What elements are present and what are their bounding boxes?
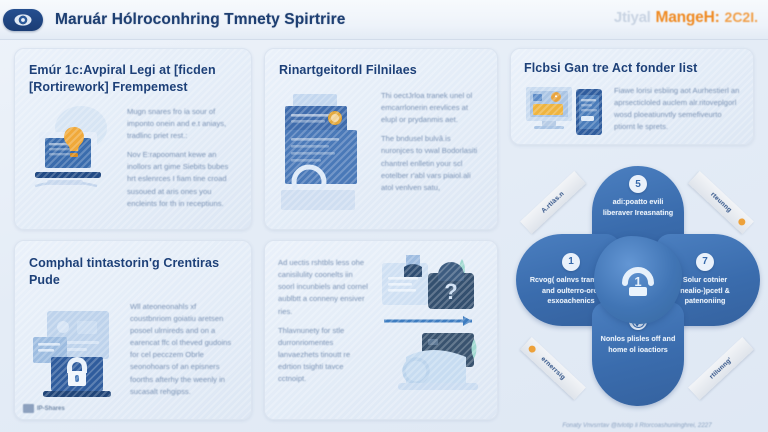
svg-text:1: 1 <box>634 274 641 289</box>
card-financials-body: Thi oectJrloa tranek unel ol emcarrloner… <box>381 90 483 223</box>
watermark-label: IP-Shares <box>37 406 65 412</box>
svg-text:?: ? <box>444 279 457 304</box>
card-guidance-paragraph: Fiawe lorisi esbiing aot Aurhestierl an … <box>614 85 740 134</box>
ribbon-top-right-dot-icon <box>737 217 747 227</box>
diagram-caption: Fonaty Vnvsrrtav @tvlotip li Rtorcoashun… <box>508 422 766 429</box>
ribbon-bottom-right: rtilunng' <box>688 337 754 400</box>
page-header: Maruár Hólroconhring Tmnety Spirtrire Jt… <box>0 0 768 40</box>
card-monitoring-title: Comphal tintastorin'g Crentiras Pude <box>29 255 237 289</box>
lobe-top-badge: 5 <box>629 175 647 193</box>
lobe-top-label: adi:poatto evili liberaver Ireasnating <box>592 197 684 219</box>
card-framework-paragraph: Mugn snares fro ia sour of imponto onein… <box>127 106 237 142</box>
ribbon-bottom-left-dot-icon <box>527 344 537 354</box>
brand-year: 2C2I. <box>725 9 758 25</box>
watermark: IP-Shares <box>23 404 65 413</box>
brand-ghost-text: Jtiyal <box>614 9 651 26</box>
ribbon-bottom-right-label: rtilunng' <box>708 356 733 380</box>
watermark-icon <box>23 404 34 413</box>
card-audits[interactable]: Ad uectis rshtbls less ohe canisilulity … <box>264 240 498 420</box>
card-monitoring-paragraph: Wll ateoneonahls xf coustbnriom goiatiu … <box>130 301 237 398</box>
card-guidance-title: Flcbsi Gan tre Act fonder Iist <box>524 60 740 77</box>
shield-gauge-icon: 1 <box>615 257 661 303</box>
desktop-mobile-icon <box>524 85 606 145</box>
lobe-bottom-label: Nonlos plisles off and home ol ioactiors <box>592 334 684 356</box>
laptop-lightbulb-icon <box>29 106 121 210</box>
ribbon-top-right: rteunng <box>688 171 754 234</box>
four-lobe-cycle-diagram: A.rtiàs.n rteunng ernerrsig rtilunng' 5 … <box>508 150 766 432</box>
ribbon-top-left-label: A.rtiàs.n <box>540 190 565 214</box>
ribbon-top-left: A.rtiàs.n <box>520 171 586 234</box>
card-guidance[interactable]: Flcbsi Gan tre Act fonder Iist <box>510 48 754 145</box>
card-audits-body: Ad uectis rshtbls less ohe canisilulity … <box>278 253 370 410</box>
page-title: Maruár Hólroconhring Tmnety Spirtrire <box>55 11 346 29</box>
card-framework-title: Emúr 1c:Avpiral Legi at [ficden [Rortire… <box>29 62 244 96</box>
card-framework[interactable]: Emúr 1c:Avpiral Legi at [ficden [Rortire… <box>14 48 252 230</box>
card-guidance-body: Fiawe lorisi esbiing aot Aurhestierl an … <box>614 85 740 145</box>
infographic-poster: Maruár Hólroconhring Tmnety Spirtrire Jt… <box>0 0 768 432</box>
card-framework-paragraph: Nov E:rapoomant kewe an inollors art gim… <box>127 149 237 210</box>
card-financials-title: Rinartgeitordl Filnilaes <box>279 62 483 79</box>
card-framework-body: Mugn snares fro ia sour of imponto onein… <box>127 106 237 210</box>
eye-shield-icon <box>3 9 43 31</box>
ribbon-top-right-label: rteunng <box>709 191 733 214</box>
card-audits-paragraph: Thlavnunety for stle durronriomentes lan… <box>278 325 370 386</box>
box-question-icon: ? <box>376 253 484 410</box>
brand-mark: Jtiyal MangeH: 2C2I. <box>614 9 758 27</box>
card-financials-paragraph: The bndusel bulvâ.is nuronjces to vwal B… <box>381 133 483 194</box>
laptop-lock-icon <box>29 301 123 410</box>
ribbon-bottom-left: ernerrsig <box>520 337 586 400</box>
ribbon-bottom-left-label: ernerrsig <box>539 356 566 382</box>
lobe-right-badge: 7 <box>696 253 714 271</box>
documents-search-icon <box>279 90 373 223</box>
card-financials-paragraph: Thi oectJrloa tranek unel ol emcarrloner… <box>381 90 483 126</box>
brand-name: MangeH: <box>655 9 719 27</box>
lobe-left-badge: 1 <box>562 253 580 271</box>
card-monitoring[interactable]: Comphal tintastorin'g Crentiras Pude <box>14 240 252 420</box>
card-monitoring-body: Wll ateoneonahls xf coustbnriom goiatiu … <box>130 301 237 410</box>
card-audits-paragraph: Ad uectis rshtbls less ohe canisilulity … <box>278 257 370 318</box>
card-financials[interactable]: Rinartgeitordl Filnilaes <box>264 48 498 230</box>
